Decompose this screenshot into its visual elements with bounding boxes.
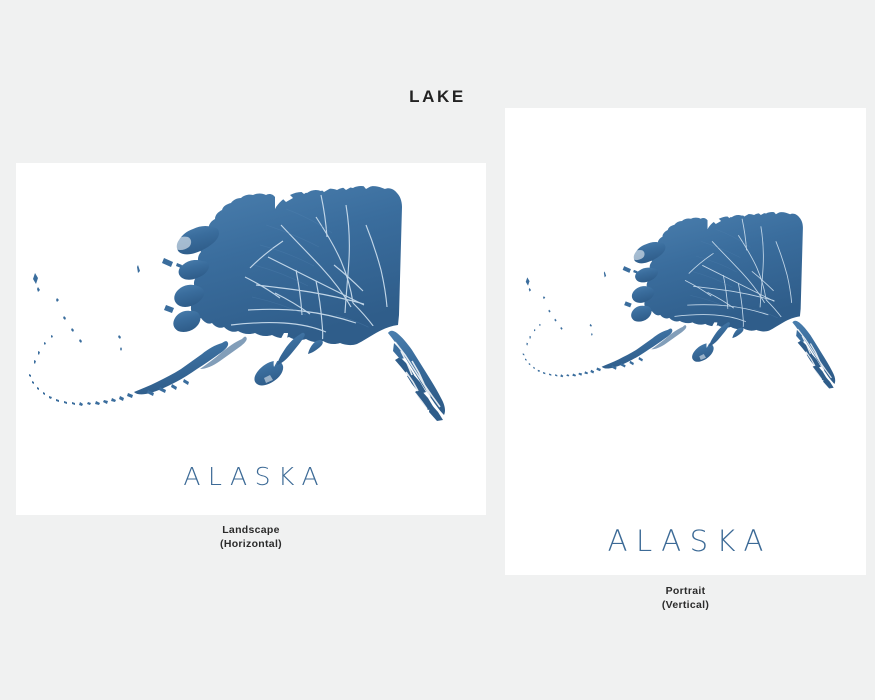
state-label-landscape: ALASKA	[16, 462, 486, 491]
map-canvas-portrait	[505, 108, 866, 575]
page-title: LAKE	[0, 86, 875, 108]
orientation-name-landscape: Landscape	[16, 523, 486, 537]
state-label-portrait: ALASKA	[505, 524, 866, 558]
orientation-name-portrait: Portrait	[505, 584, 866, 598]
print-preview-portrait[interactable]: ALASKA	[505, 108, 866, 575]
caption-portrait: Portrait (Vertical)	[505, 584, 866, 612]
alaska-map-artwork	[16, 165, 486, 460]
caption-landscape: Landscape (Horizontal)	[16, 523, 486, 551]
alaska-map-artwork	[513, 196, 866, 418]
orientation-note-portrait: (Vertical)	[505, 598, 866, 612]
print-preview-landscape[interactable]: ALASKA	[16, 163, 486, 515]
orientation-note-landscape: (Horizontal)	[16, 537, 486, 551]
